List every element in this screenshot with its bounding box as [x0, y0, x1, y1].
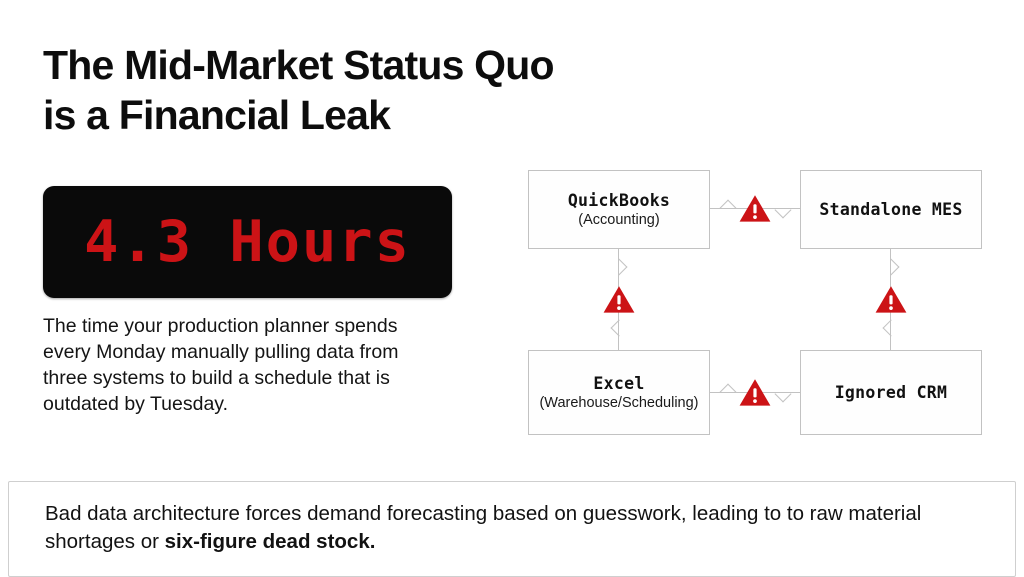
page-title-line-2: is a Financial Leak	[43, 90, 663, 140]
warning-triangle-icon-quickbooks-excel	[602, 283, 636, 317]
chevron-icon-top-left	[720, 200, 737, 217]
systems-diagram: QuickBooks (Accounting) Standalone MES E…	[500, 160, 1000, 450]
chevron-icon-left-lower	[611, 320, 628, 337]
chevron-icon-bottom-left	[720, 384, 737, 401]
node-title: Ignored CRM	[835, 383, 948, 402]
metric-value: 4.3 Hours	[84, 214, 411, 271]
node-title: QuickBooks	[568, 191, 670, 210]
diagram-node-excel[interactable]: Excel (Warehouse/Scheduling)	[528, 350, 710, 435]
warning-triangle-icon-quickbooks-mes	[738, 192, 772, 226]
chevron-icon-left-upper	[611, 259, 628, 276]
node-subtitle: (Accounting)	[578, 212, 659, 228]
chevron-icon-right-upper	[883, 259, 900, 276]
bottom-callout-banner: Bad data architecture forces demand fore…	[8, 481, 1016, 577]
node-subtitle: (Warehouse/Scheduling)	[539, 395, 698, 411]
node-title: Excel	[593, 374, 644, 393]
node-title: Standalone MES	[819, 200, 962, 219]
page-title-line-1: The Mid-Market Status Quo	[43, 40, 663, 90]
metric-caption: The time your production planner spends …	[43, 313, 443, 418]
warning-triangle-icon-excel-crm	[738, 376, 772, 410]
chevron-icon-right-lower	[883, 320, 900, 337]
diagram-node-standalone-mes[interactable]: Standalone MES	[800, 170, 982, 249]
chevron-icon-bottom-right	[775, 386, 792, 403]
page-title: The Mid-Market Status Quo is a Financial…	[43, 40, 663, 140]
metric-display-panel: 4.3 Hours	[43, 186, 452, 298]
bottom-callout-emphasis: six-figure dead stock.	[165, 530, 376, 553]
diagram-node-quickbooks[interactable]: QuickBooks (Accounting)	[528, 170, 710, 249]
bottom-callout-line-1: Bad data architecture forces demand fore…	[45, 502, 781, 525]
bottom-callout-text: Bad data architecture forces demand fore…	[45, 500, 975, 556]
warning-triangle-icon-mes-crm	[874, 283, 908, 317]
diagram-node-ignored-crm[interactable]: Ignored CRM	[800, 350, 982, 435]
chevron-icon-top-right	[775, 202, 792, 219]
